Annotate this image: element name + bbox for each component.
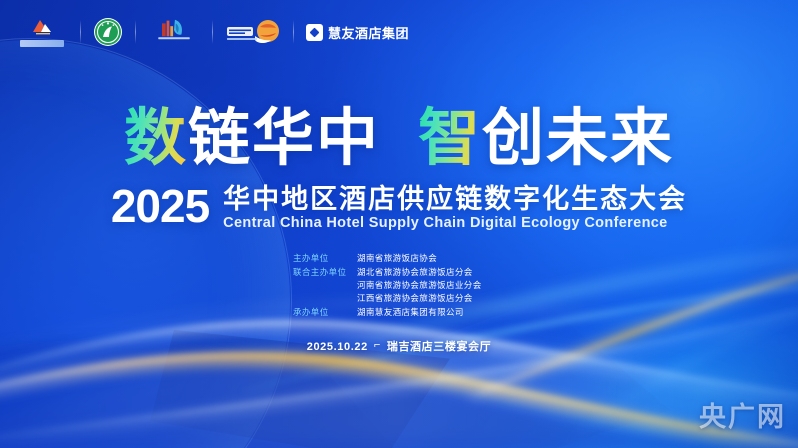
- globe-arc-decoration: [0, 40, 290, 448]
- circular-seal-icon: [93, 17, 123, 47]
- organizer-row-organizer: 承办单位 湖南慧友酒店集团有限公司: [293, 306, 505, 319]
- partner-logo-3[interactable]: [148, 15, 200, 49]
- organizer-values-organizer: 湖南慧友酒店集团有限公司: [357, 306, 464, 319]
- logo-divider-2: [135, 20, 136, 44]
- conference-name-cn: 华中地区酒店供应链数字化生态大会: [223, 185, 687, 213]
- watermark: 央广网: [699, 395, 786, 434]
- organizer-values-cohost: 湖北省旅游协会旅游饭店分会 河南省旅游协会旅游饭店业分会 江西省旅游协会旅游饭店…: [357, 266, 482, 305]
- organizer-row-cohost: 联合主办单位 湖北省旅游协会旅游饭店分会 河南省旅游协会旅游饭店业分会 江西省旅…: [293, 266, 505, 305]
- facet-shape-a-decoration: [330, 300, 670, 448]
- partner-logo-5-label: 慧友酒店集团: [328, 23, 409, 42]
- headline-rest-2: 创未来: [482, 104, 674, 173]
- partner-logo-strip: 慧友酒店集团: [16, 14, 409, 50]
- organizer-label-organizer: 承办单位: [293, 306, 357, 319]
- event-venue: 瑞吉酒店三楼宴会厅: [387, 341, 491, 353]
- organizer-values-host: 湖南省旅游饭店协会: [357, 252, 437, 265]
- organizer-row-host: 主办单位 湖南省旅游饭店协会: [293, 252, 505, 265]
- organizer-value: 湖南省旅游饭店协会: [357, 252, 437, 265]
- cyan-glow-decoration: [540, 300, 798, 448]
- conference-name-block: 华中地区酒店供应链数字化生态大会 Central China Hotel Sup…: [223, 183, 687, 232]
- conference-subheading: 2025 华中地区酒店供应链数字化生态大会 Central China Hote…: [0, 183, 798, 232]
- headline-rest-1: 链华中: [188, 104, 380, 173]
- event-date-venue: 2025.10.22⌐瑞吉酒店三楼宴会厅: [0, 338, 798, 354]
- organizer-label-host: 主办单位: [293, 252, 357, 265]
- huiyou-diamond-icon: [306, 24, 323, 41]
- mountain-pavilion-icon: [30, 17, 54, 35]
- partner-logo-1[interactable]: [16, 15, 68, 49]
- abstract-tower-icon: [148, 16, 200, 40]
- organizer-value: 江西省旅游协会旅游饭店分会: [357, 292, 482, 305]
- logo-divider-4: [293, 20, 294, 44]
- organizer-label-cohost: 联合主办单位: [293, 266, 357, 279]
- partner-logo-5[interactable]: 慧友酒店集团: [306, 15, 409, 49]
- logo-divider-1: [80, 20, 81, 44]
- partner-logo-2[interactable]: [93, 15, 123, 49]
- main-headline: 数链华中智创未来: [0, 108, 798, 170]
- logo-divider-3: [212, 20, 213, 44]
- globe-swirl-icon: [225, 18, 281, 46]
- date-venue-separator-icon: ⌐: [374, 339, 381, 351]
- headline-accent-1: 数: [124, 104, 188, 173]
- organizer-value: 河南省旅游协会旅游饭店业分会: [357, 279, 482, 292]
- organizer-value: 湖北省旅游协会旅游饭店分会: [357, 266, 482, 279]
- organizer-value: 湖南慧友酒店集团有限公司: [357, 306, 464, 319]
- conference-year: 2025: [111, 183, 209, 229]
- conference-banner: 慧友酒店集团 数链华中智创未来 2025 华中地区酒店供应链数字化生态大会 Ce…: [0, 0, 798, 448]
- conference-name-en: Central China Hotel Supply Chain Digital…: [223, 216, 687, 232]
- partner-logo-4[interactable]: [225, 15, 281, 49]
- headline-accent-2: 智: [418, 104, 482, 173]
- partner-logo-1-wordmark: [20, 40, 64, 47]
- globe-edge-decoration: [0, 38, 292, 448]
- event-date: 2025.10.22: [307, 341, 368, 353]
- organizers-block: 主办单位 湖南省旅游饭店协会 联合主办单位 湖北省旅游协会旅游饭店分会 河南省旅…: [0, 252, 798, 319]
